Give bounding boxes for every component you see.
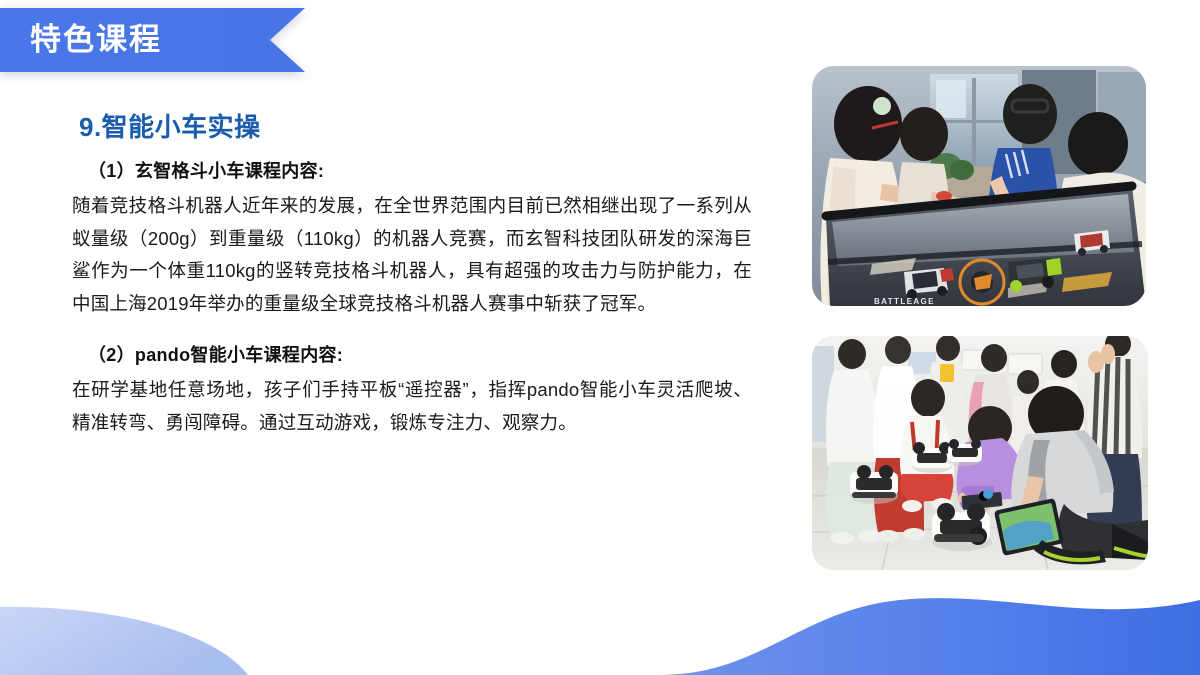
body-paragraph-1: 随着竞技格斗机器人近年来的发展，在全世界范围内目前已然相继出现了一系列从蚁量级（…	[72, 190, 752, 320]
sub-heading-1: （1）玄智格斗小车课程内容:	[88, 159, 752, 183]
battle-arena-photo: BATTLEAGE	[812, 66, 1146, 306]
pando-robot-illustration	[812, 336, 1148, 570]
pando-robot-photo	[812, 336, 1148, 570]
paragraph-spacer	[72, 330, 752, 343]
arena-logo-text: BATTLEAGE	[874, 297, 935, 306]
content-column: 9.智能小车实操 （1）玄智格斗小车课程内容: 随着竞技格斗机器人近年来的发展，…	[72, 112, 752, 449]
sub-heading-2: （2）pando智能小车课程内容:	[88, 343, 752, 367]
battle-arena-illustration: BATTLEAGE	[812, 66, 1146, 306]
page-title: 特色课程	[30, 8, 162, 72]
bottom-left-blob	[0, 607, 248, 675]
bottom-right-wave	[660, 598, 1200, 675]
header-ribbon: 特色课程	[0, 8, 330, 72]
body-paragraph-2: 在研学基地任意场地，孩子们手持平板“遥控器”，指挥pando智能小车灵活爬坡、精…	[72, 374, 752, 439]
section-heading: 9.智能小车实操	[79, 112, 752, 143]
